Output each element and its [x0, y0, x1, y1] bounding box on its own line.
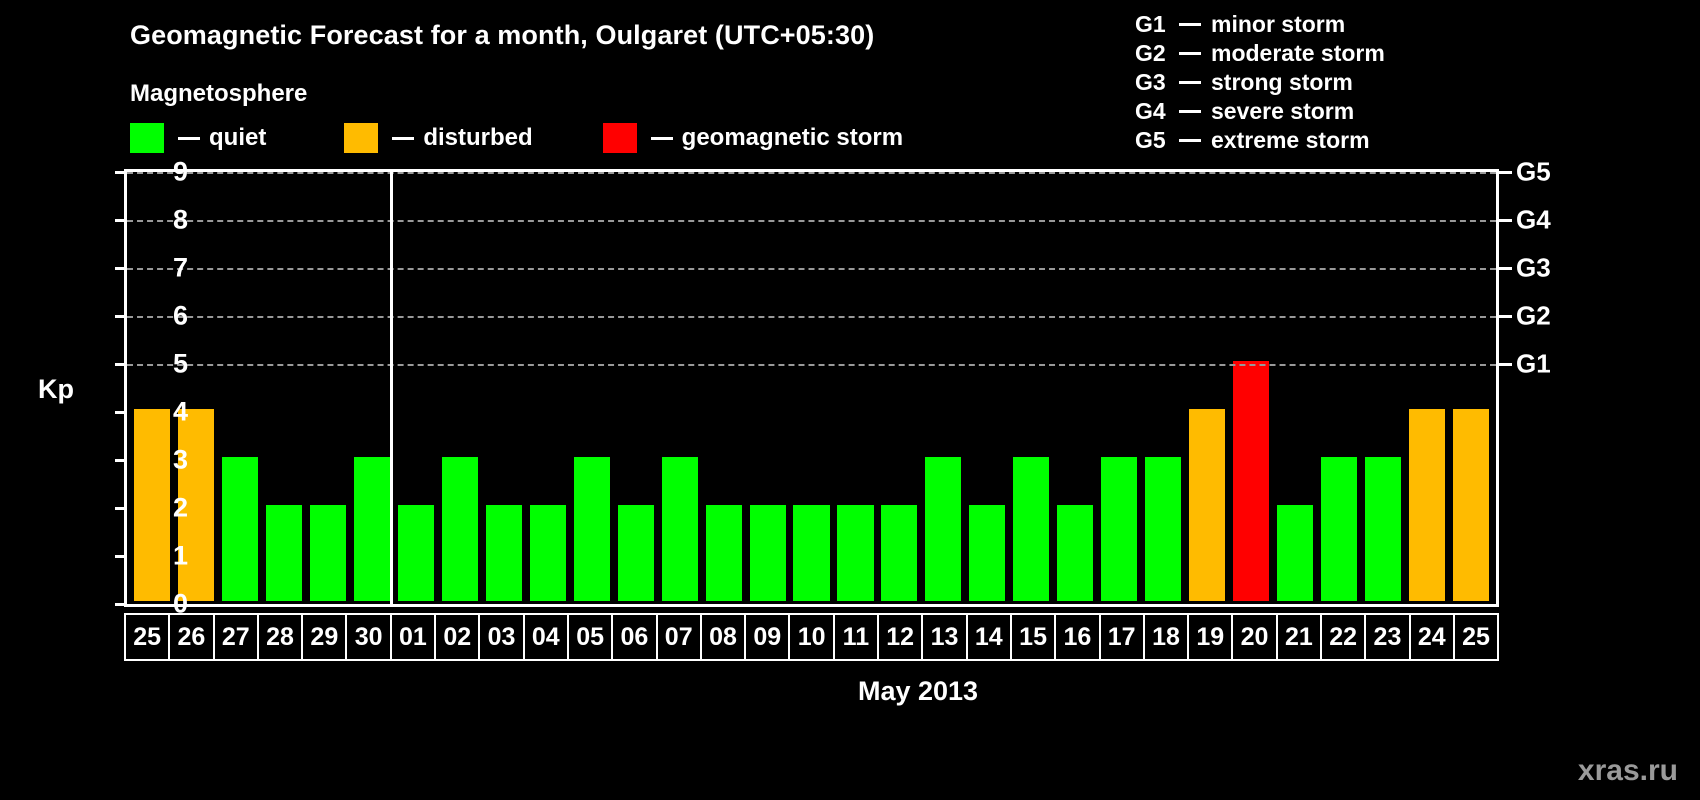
bar-slot[interactable] — [482, 175, 526, 601]
bar-19-disturbed[interactable] — [1189, 409, 1225, 601]
y-tick-mark — [115, 363, 126, 366]
bar-slot[interactable] — [526, 175, 570, 601]
x-tick-label-05: 05 — [569, 615, 613, 659]
g-scale-code: G3 — [1135, 69, 1169, 96]
legend-disturbed-swatch — [344, 123, 378, 153]
g-scale-text: strong storm — [1211, 69, 1353, 96]
bar-slot[interactable] — [350, 175, 394, 601]
bar-series — [130, 175, 1493, 601]
g-axis-tick-mark — [1499, 171, 1512, 174]
legend-quiet-label: quiet — [209, 124, 266, 152]
y-tick-mark — [115, 459, 126, 462]
g-scale-text: minor storm — [1211, 11, 1345, 38]
y-tick-mark — [115, 171, 126, 174]
y-tick-mark — [115, 555, 126, 558]
g-scale-dash-icon — [1179, 52, 1201, 55]
bar-04-quiet[interactable] — [530, 505, 566, 601]
bar-06-quiet[interactable] — [618, 505, 654, 601]
bar-16-quiet[interactable] — [1057, 505, 1093, 601]
x-tick-label-02: 02 — [436, 615, 480, 659]
g-axis-tick-mark — [1499, 267, 1512, 270]
g-axis-tick-mark — [1499, 363, 1512, 366]
legend-storm: geomagnetic storm — [603, 123, 903, 153]
bar-slot[interactable] — [1009, 175, 1053, 601]
bar-slot[interactable] — [834, 175, 878, 601]
x-tick-label-26: 26 — [170, 615, 214, 659]
y-tick-mark — [115, 315, 126, 318]
magnetosphere-label: Magnetosphere — [130, 80, 307, 108]
bar-29-quiet[interactable] — [310, 505, 346, 601]
page-title: Geomagnetic Forecast for a month, Oulgar… — [130, 20, 874, 51]
bar-24-disturbed[interactable] — [1409, 409, 1445, 601]
legend-disturbed: disturbed — [344, 123, 532, 153]
g-scale-text: extreme storm — [1211, 127, 1370, 154]
month-caption: May 2013 — [858, 676, 978, 706]
bar-slot[interactable] — [1273, 175, 1317, 601]
g-scale-legend: G1minor stormG2moderate stormG3strong st… — [1135, 10, 1385, 155]
x-tick-label-28: 28 — [259, 615, 303, 659]
g-scale-dash-icon — [1179, 110, 1201, 113]
x-tick-label-29: 29 — [303, 615, 347, 659]
x-tick-label-07: 07 — [658, 615, 702, 659]
bar-02-quiet[interactable] — [442, 457, 478, 601]
gridline — [127, 172, 1496, 174]
bar-01-quiet[interactable] — [398, 505, 434, 601]
bar-slot[interactable] — [1361, 175, 1405, 601]
bar-11-quiet[interactable] — [837, 505, 873, 601]
legend-quiet-swatch — [130, 123, 164, 153]
bar-09-quiet[interactable] — [750, 505, 786, 601]
watermark: xras.ru — [1578, 754, 1678, 788]
bar-13-quiet[interactable] — [925, 457, 961, 601]
bar-slot[interactable] — [702, 175, 746, 601]
bar-slot[interactable] — [746, 175, 790, 601]
y-tick-mark — [115, 219, 126, 222]
bar-slot[interactable] — [1317, 175, 1361, 601]
x-tick-label-24: 24 — [1411, 615, 1455, 659]
x-tick-label-22: 22 — [1322, 615, 1366, 659]
bar-28-quiet[interactable] — [266, 505, 302, 601]
x-tick-label-13: 13 — [923, 615, 967, 659]
bar-10-quiet[interactable] — [793, 505, 829, 601]
bar-07-quiet[interactable] — [662, 457, 698, 601]
legend-storm-label: geomagnetic storm — [682, 124, 903, 152]
bar-slot[interactable] — [1097, 175, 1141, 601]
x-tick-label-11: 11 — [835, 615, 879, 659]
bar-slot[interactable] — [394, 175, 438, 601]
bar-slot[interactable] — [438, 175, 482, 601]
bar-23-quiet[interactable] — [1365, 457, 1401, 601]
g-axis-tick-g4: G4 — [1516, 205, 1551, 236]
y-tick-label: 4 — [128, 397, 188, 428]
x-tick-label-17: 17 — [1101, 615, 1145, 659]
g-scale-row-g4: G4severe storm — [1135, 97, 1385, 126]
bar-slot[interactable] — [1053, 175, 1097, 601]
y-tick-label: 2 — [128, 493, 188, 524]
bar-slot[interactable] — [921, 175, 965, 601]
bar-slot[interactable] — [218, 175, 262, 601]
bar-12-quiet[interactable] — [881, 505, 917, 601]
y-tick-label: 3 — [128, 445, 188, 476]
bar-21-quiet[interactable] — [1277, 505, 1313, 601]
g-scale-text: moderate storm — [1211, 40, 1385, 67]
bar-17-quiet[interactable] — [1101, 457, 1137, 601]
g-scale-code: G5 — [1135, 127, 1169, 154]
g-scale-code: G4 — [1135, 98, 1169, 125]
y-tick-label: 6 — [128, 301, 188, 332]
bar-slot[interactable] — [174, 175, 218, 601]
y-axis-title: Kp — [38, 374, 74, 405]
x-tick-label-23: 23 — [1366, 615, 1410, 659]
g-scale-dash-icon — [1179, 81, 1201, 84]
legend: quietdisturbedgeomagnetic storm — [130, 123, 903, 153]
x-tick-label-06: 06 — [613, 615, 657, 659]
x-tick-label-12: 12 — [879, 615, 923, 659]
x-tick-label-09: 09 — [746, 615, 790, 659]
bar-slot[interactable] — [570, 175, 614, 601]
x-tick-label-20: 20 — [1233, 615, 1277, 659]
y-tick-label: 5 — [128, 349, 188, 380]
x-axis-labels: 2526272829300102030405060708091011121314… — [124, 613, 1499, 661]
bar-03-quiet[interactable] — [486, 505, 522, 601]
bar-05-quiet[interactable] — [574, 457, 610, 601]
bar-18-quiet[interactable] — [1145, 457, 1181, 601]
gridline — [127, 316, 1496, 318]
g-axis-tick-mark — [1499, 219, 1512, 222]
bar-slot[interactable] — [790, 175, 834, 601]
gridline — [127, 268, 1496, 270]
bar-30-quiet[interactable] — [354, 457, 390, 601]
g-axis-tick-g1: G1 — [1516, 349, 1551, 380]
g-axis-tick-g2: G2 — [1516, 301, 1551, 332]
g-scale-row-g2: G2moderate storm — [1135, 39, 1385, 68]
bar-20-storm[interactable] — [1233, 361, 1269, 601]
g-axis-tick-g5: G5 — [1516, 157, 1551, 188]
x-tick-label-27: 27 — [215, 615, 259, 659]
bar-slot[interactable] — [877, 175, 921, 601]
x-tick-label-18: 18 — [1145, 615, 1189, 659]
x-tick-label-16: 16 — [1056, 615, 1100, 659]
g-scale-dash-icon — [1179, 139, 1201, 142]
legend-disturbed-label: disturbed — [423, 124, 532, 152]
g-axis-tick-mark — [1499, 315, 1512, 318]
bar-slot[interactable] — [1405, 175, 1449, 601]
y-tick-label: 9 — [128, 157, 188, 188]
g-scale-code: G2 — [1135, 40, 1169, 67]
y-tick-mark — [115, 267, 126, 270]
x-tick-label-08: 08 — [702, 615, 746, 659]
g-scale-row-g1: G1minor storm — [1135, 10, 1385, 39]
bar-22-quiet[interactable] — [1321, 457, 1357, 601]
bar-slot[interactable] — [965, 175, 1009, 601]
y-tick-label: 1 — [128, 541, 188, 572]
legend-disturbed-dash-icon — [392, 137, 414, 140]
bar-slot[interactable] — [1229, 175, 1273, 601]
legend-quiet: quiet — [130, 123, 266, 153]
y-tick-label: 8 — [128, 205, 188, 236]
y-tick-label: 7 — [128, 253, 188, 284]
g-scale-dash-icon — [1179, 23, 1201, 26]
y-tick-mark — [115, 603, 126, 606]
bar-slot[interactable] — [658, 175, 702, 601]
bar-08-quiet[interactable] — [706, 505, 742, 601]
x-tick-label-30: 30 — [347, 615, 391, 659]
x-tick-label-21: 21 — [1278, 615, 1322, 659]
bar-slot[interactable] — [1449, 175, 1493, 601]
g-axis-tick-g3: G3 — [1516, 253, 1551, 284]
x-axis-title: May 2013 — [0, 676, 1700, 707]
bar-25-disturbed[interactable] — [1453, 409, 1489, 601]
y-tick-mark — [115, 411, 126, 414]
bar-14-quiet[interactable] — [969, 505, 1005, 601]
bar-slot[interactable] — [130, 175, 174, 601]
bar-slot[interactable] — [1141, 175, 1185, 601]
legend-storm-swatch — [603, 123, 637, 153]
today-divider — [390, 169, 393, 607]
gridline — [127, 364, 1496, 366]
x-tick-label-01: 01 — [392, 615, 436, 659]
bar-27-quiet[interactable] — [222, 457, 258, 601]
y-tick-label: 0 — [128, 589, 188, 620]
x-tick-label-19: 19 — [1189, 615, 1233, 659]
gridline — [127, 220, 1496, 222]
plot-area — [124, 169, 1499, 607]
legend-storm-dash-icon — [651, 137, 673, 140]
x-tick-label-14: 14 — [968, 615, 1012, 659]
x-tick-label-15: 15 — [1012, 615, 1056, 659]
bar-slot[interactable] — [306, 175, 350, 601]
g-scale-code: G1 — [1135, 11, 1169, 38]
x-tick-label-25: 25 — [1455, 615, 1497, 659]
x-tick-label-03: 03 — [480, 615, 524, 659]
bar-slot[interactable] — [1185, 175, 1229, 601]
bar-15-quiet[interactable] — [1013, 457, 1049, 601]
g-scale-row-g5: G5extreme storm — [1135, 126, 1385, 155]
g-scale-row-g3: G3strong storm — [1135, 68, 1385, 97]
bar-slot[interactable] — [262, 175, 306, 601]
legend-quiet-dash-icon — [178, 137, 200, 140]
bar-slot[interactable] — [614, 175, 658, 601]
x-tick-label-10: 10 — [790, 615, 834, 659]
y-tick-mark — [115, 507, 126, 510]
x-tick-label-25: 25 — [126, 615, 170, 659]
x-tick-label-04: 04 — [525, 615, 569, 659]
plot-frame — [124, 169, 1499, 607]
g-scale-text: severe storm — [1211, 98, 1354, 125]
